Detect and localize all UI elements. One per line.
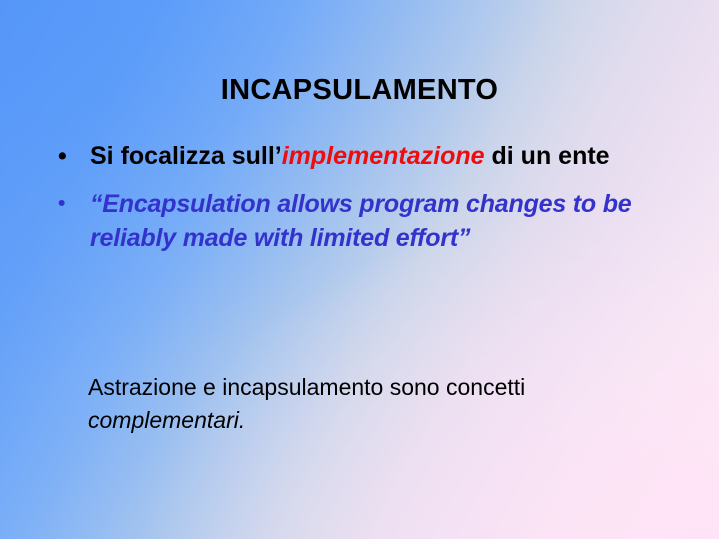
slide-content: INCAPSULAMENTO •Si focalizza sull’implem… [0, 0, 719, 539]
bullet-quote-text: “Encapsulation allows program changes to… [90, 190, 632, 252]
slide-title: INCAPSULAMENTO [0, 74, 719, 107]
closing-paragraph-emphasis: complementari. [88, 407, 245, 433]
bullet-text-tail: di un ente [485, 142, 610, 170]
bullet-marker-icon: • [58, 139, 67, 173]
bullet-text-lead: Si focalizza sull’ [90, 142, 282, 170]
bullet-item-encapsulation-quote: •“Encapsulation allows program changes t… [52, 187, 692, 255]
bullet-marker-icon: • [58, 187, 65, 221]
bullet-item-focalizza: •Si focalizza sull’implementazione di un… [52, 139, 692, 173]
bullet-list: •Si focalizza sull’implementazione di un… [52, 139, 692, 255]
bullet-text-emphasis-implementazione: implementazione [282, 142, 485, 170]
slide-canvas: INCAPSULAMENTO •Si focalizza sull’implem… [0, 0, 719, 539]
closing-paragraph-lead: Astrazione e incapsulamento sono concett… [88, 374, 525, 400]
closing-paragraph: Astrazione e incapsulamento sono concett… [88, 371, 688, 437]
